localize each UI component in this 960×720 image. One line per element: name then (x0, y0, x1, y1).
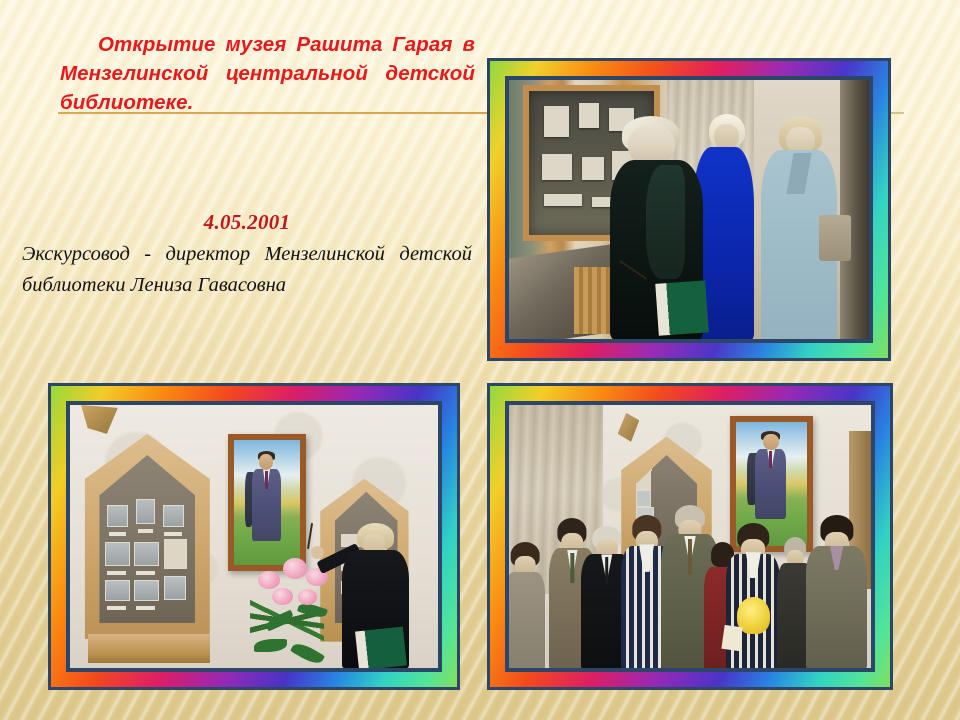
exhibit-text-panel (164, 539, 187, 569)
exhibit-label (544, 194, 581, 205)
portrait-tie (265, 471, 268, 488)
green-folder (355, 626, 407, 668)
framed-portrait-of-rashit-garay (228, 434, 305, 571)
photo-frame-bottom-left[interactable] (48, 383, 460, 690)
portrait-face (763, 434, 779, 450)
exhibit-photo (136, 499, 155, 524)
guide-hand (311, 546, 324, 559)
exhibit-photo (107, 505, 128, 527)
caption-body: Экскурсовод - директор Мензелинской детс… (22, 239, 472, 301)
exhibit-label (136, 571, 155, 575)
door-frame (840, 80, 869, 339)
exhibit-photo (134, 580, 159, 602)
portrait-tie (769, 451, 772, 467)
body (509, 572, 545, 668)
tie (605, 557, 609, 583)
photo-frame-bottom-right[interactable] (487, 383, 893, 690)
pink-rose (258, 571, 280, 589)
exhibit-label (107, 571, 126, 575)
exhibit-label (107, 606, 126, 610)
photo-inner-border (505, 401, 875, 672)
exhibit-photo (164, 576, 185, 600)
exhibit-photo (636, 490, 652, 507)
exhibit-photo (163, 505, 184, 527)
exhibit-photo (542, 154, 572, 180)
exhibit-photo (582, 157, 604, 180)
photo-group-of-visitors-at-opening (509, 405, 871, 668)
display-case-base (88, 634, 209, 663)
dress-trim (646, 165, 686, 279)
exhibit-label (138, 529, 153, 533)
visitor-woman-far-left (509, 542, 545, 668)
green-folder (655, 280, 709, 335)
tie (688, 539, 692, 575)
exhibit-photo (134, 542, 159, 566)
exhibit-label (109, 532, 126, 536)
exhibit-photo (105, 542, 130, 566)
exhibit-photo (105, 580, 130, 602)
caption-block: 4.05.2001 Экскурсовод - директор Мензели… (22, 210, 472, 301)
exhibit-photo (579, 103, 599, 129)
portrait-face (259, 454, 273, 470)
tie (571, 553, 574, 583)
pink-rose (272, 588, 292, 605)
exhibit-label (136, 606, 155, 610)
handbag (819, 215, 851, 262)
photo-inner-border (505, 76, 873, 343)
slide-title-block: Открытие музея Рашита Гарая в Мензелинск… (60, 30, 475, 117)
pink-rose (298, 589, 316, 605)
exhibit-label (164, 532, 181, 536)
pink-rose (283, 558, 307, 579)
paper-booklet (721, 625, 742, 651)
page-title: Открытие музея Рашита Гарая в Мензелинск… (60, 30, 475, 117)
photo-guide-pointing-at-portrait (70, 405, 438, 668)
woman-front-face (628, 124, 675, 165)
presentation-slide: Открытие музея Рашита Гарая в Мензелинск… (0, 0, 960, 720)
photo-inner-border (66, 401, 442, 672)
caption-date: 4.05.2001 (22, 210, 472, 235)
exhibit-photo (544, 106, 569, 138)
visitor-woman-9-right (806, 515, 868, 668)
photo-frame-top-right[interactable] (487, 58, 891, 361)
photo-three-women-at-museum-display (509, 80, 869, 339)
